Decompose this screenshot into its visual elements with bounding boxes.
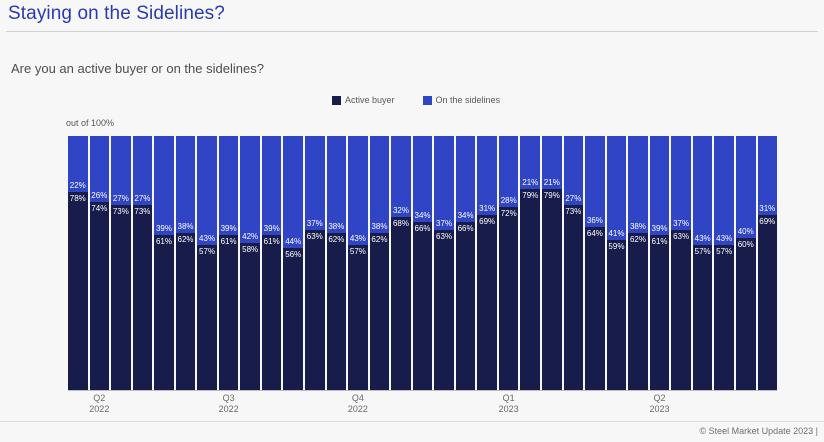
x-axis-tick-quarter: Q4 — [348, 393, 368, 404]
bar-segment-on-the-sidelines[interactable]: 36% — [585, 136, 605, 227]
x-axis-tick-quarter: Q2 — [649, 393, 669, 404]
stacked-bar-plot: 22%78%26%74%27%73%27%73%39%61%38%62%43%5… — [68, 136, 777, 390]
bar-segment-value-on-the-sidelines: 21% — [544, 178, 560, 187]
bar-segment-value-on-the-sidelines: 34% — [415, 211, 431, 220]
bar-column[interactable]: 43%57% — [693, 136, 713, 390]
x-axis-tick-year: 2022 — [219, 404, 239, 415]
bar-segment-value-on-the-sidelines: 22% — [70, 181, 86, 190]
square-swatch-icon — [332, 96, 341, 105]
x-axis-tick-quarter: Q1 — [499, 393, 519, 404]
page-title: Staying on the Sidelines? — [8, 3, 225, 25]
bar-segment-on-the-sidelines[interactable]: 38% — [176, 136, 196, 233]
bar-segment-value-on-the-sidelines: 39% — [221, 224, 237, 233]
bar-segment-value-active-buyer: 68% — [393, 219, 409, 228]
bar-segment-value-active-buyer: 57% — [716, 247, 732, 256]
x-axis-tick: Q12023 — [499, 393, 519, 415]
bar-segment-value-active-buyer: 69% — [759, 217, 775, 226]
bar-segment-active-buyer[interactable]: 73% — [133, 205, 153, 390]
bar-segment-value-on-the-sidelines: 26% — [91, 191, 107, 200]
bar-segment-value-active-buyer: 61% — [156, 237, 172, 246]
bar-segment-on-the-sidelines[interactable]: 43% — [714, 136, 734, 245]
bar-segment-on-the-sidelines[interactable]: 38% — [628, 136, 648, 233]
x-axis-tick-year: 2023 — [649, 404, 669, 415]
bar-column[interactable]: 36%64% — [585, 136, 605, 390]
chart-page: Staying on the Sidelines? Are you an act… — [0, 0, 824, 442]
bar-segment-on-the-sidelines[interactable]: 27% — [564, 136, 584, 205]
chart-subtitle: Are you an active buyer or on the sideli… — [11, 61, 264, 76]
bar-segment-on-the-sidelines[interactable]: 42% — [240, 136, 260, 243]
bar-segment-value-on-the-sidelines: 34% — [458, 211, 474, 220]
bar-segment-value-on-the-sidelines: 40% — [738, 227, 754, 236]
bar-segment-value-on-the-sidelines: 44% — [285, 237, 301, 246]
bar-segment-value-active-buyer: 63% — [436, 232, 452, 241]
x-axis-line — [68, 390, 777, 391]
bar-segment-on-the-sidelines[interactable]: 37% — [305, 136, 325, 230]
bar-segment-on-the-sidelines[interactable]: 43% — [693, 136, 713, 245]
bar-segment-value-on-the-sidelines: 41% — [608, 229, 624, 238]
bar-column[interactable]: 21%79% — [520, 136, 540, 390]
page-header: Staying on the Sidelines? — [0, 0, 824, 32]
bar-segment-value-active-buyer: 57% — [695, 247, 711, 256]
bar-segment-active-buyer[interactable]: 62% — [327, 233, 347, 390]
bar-segment-on-the-sidelines[interactable]: 34% — [413, 136, 433, 222]
bar-segment-value-active-buyer: 73% — [113, 207, 129, 216]
legend-item-active-buyer[interactable]: Active buyer — [332, 95, 395, 105]
bar-segment-active-buyer[interactable]: 63% — [671, 230, 691, 390]
bar-segment-active-buyer[interactable]: 57% — [693, 245, 713, 390]
bar-segment-value-active-buyer: 57% — [350, 247, 366, 256]
bar-column[interactable]: 28%72% — [499, 136, 519, 390]
bar-segment-active-buyer[interactable]: 62% — [628, 233, 648, 390]
bar-segment-on-the-sidelines[interactable]: 22% — [68, 136, 88, 192]
bar-segment-on-the-sidelines[interactable]: 40% — [736, 136, 756, 238]
x-axis-tick-year: 2022 — [89, 404, 109, 415]
bar-segment-value-on-the-sidelines: 43% — [695, 234, 711, 243]
bar-segment-value-on-the-sidelines: 27% — [113, 194, 129, 203]
bar-column[interactable]: 39%61% — [219, 136, 239, 390]
bar-column[interactable]: 27%73% — [564, 136, 584, 390]
bar-column[interactable]: 40%60% — [736, 136, 756, 390]
bar-segment-on-the-sidelines[interactable]: 28% — [499, 136, 519, 207]
bar-segment-on-the-sidelines[interactable]: 27% — [111, 136, 131, 205]
bar-column[interactable]: 37%63% — [671, 136, 691, 390]
bar-segment-on-the-sidelines[interactable]: 34% — [456, 136, 476, 222]
bar-column[interactable]: 27%73% — [111, 136, 131, 390]
bar-segment-value-active-buyer: 62% — [630, 235, 646, 244]
bar-segment-value-on-the-sidelines: 43% — [199, 234, 215, 243]
bar-segment-value-active-buyer: 63% — [673, 232, 689, 241]
bar-segment-value-on-the-sidelines: 39% — [264, 224, 280, 233]
bar-column[interactable]: 27%73% — [133, 136, 153, 390]
bar-column[interactable]: 21%79% — [542, 136, 562, 390]
bar-segment-value-on-the-sidelines: 27% — [565, 194, 581, 203]
x-axis-tick-quarter: Q3 — [219, 393, 239, 404]
bar-segment-value-active-buyer: 62% — [371, 235, 387, 244]
bar-column[interactable]: 31%69% — [477, 136, 497, 390]
bar-segment-value-active-buyer: 79% — [544, 191, 560, 200]
x-axis-tick: Q42022 — [348, 393, 368, 415]
bar-segment-on-the-sidelines[interactable]: 27% — [133, 136, 153, 205]
bar-column[interactable]: 39%61% — [650, 136, 670, 390]
x-axis-tick: Q22022 — [89, 393, 109, 415]
bar-segment-on-the-sidelines[interactable]: 39% — [262, 136, 282, 235]
bar-column[interactable]: 39%61% — [262, 136, 282, 390]
bar-column[interactable]: 43%57% — [348, 136, 368, 390]
bar-segment-value-on-the-sidelines: 43% — [716, 234, 732, 243]
bar-segment-value-on-the-sidelines: 42% — [242, 232, 258, 241]
bar-column[interactable]: 38%62% — [176, 136, 196, 390]
bar-segment-active-buyer[interactable]: 57% — [714, 245, 734, 390]
bar-column[interactable]: 31%69% — [758, 136, 778, 390]
bar-column[interactable]: 34%66% — [413, 136, 433, 390]
bar-segment-active-buyer[interactable]: 79% — [542, 189, 562, 390]
bar-segment-active-buyer[interactable]: 62% — [370, 233, 390, 390]
bar-column[interactable]: 38%62% — [370, 136, 390, 390]
x-axis-tick: Q32022 — [219, 393, 239, 415]
bar-segment-value-active-buyer: 61% — [264, 237, 280, 246]
bar-segment-value-on-the-sidelines: 32% — [393, 206, 409, 215]
bar-segment-on-the-sidelines[interactable]: 37% — [434, 136, 454, 230]
bar-column[interactable]: 43%57% — [197, 136, 217, 390]
bar-segment-active-buyer[interactable]: 74% — [90, 202, 110, 390]
bar-segment-value-active-buyer: 66% — [458, 224, 474, 233]
bar-segment-on-the-sidelines[interactable]: 43% — [197, 136, 217, 245]
bar-segment-active-buyer[interactable]: 63% — [305, 230, 325, 390]
bar-segment-active-buyer[interactable]: 61% — [219, 235, 239, 390]
bar-segment-on-the-sidelines[interactable]: 32% — [391, 136, 411, 217]
bar-segment-value-active-buyer: 62% — [328, 235, 344, 244]
bar-column[interactable]: 37%63% — [434, 136, 454, 390]
bar-column[interactable]: 44%56% — [283, 136, 303, 390]
x-axis-tick-quarter: Q2 — [89, 393, 109, 404]
bar-segment-active-buyer[interactable]: 61% — [650, 235, 670, 390]
y-axis-note: out of 100% — [66, 118, 114, 128]
bar-column[interactable]: 42%58% — [240, 136, 260, 390]
bar-segment-active-buyer[interactable]: 59% — [607, 240, 627, 390]
bar-segment-value-on-the-sidelines: 28% — [501, 196, 517, 205]
bar-segment-value-on-the-sidelines: 31% — [759, 204, 775, 213]
bar-segment-value-on-the-sidelines: 21% — [522, 178, 538, 187]
footer-credit: © Steel Market Update 2023 | — [699, 426, 818, 436]
bar-segment-active-buyer[interactable]: 56% — [283, 248, 303, 390]
bar-segment-value-on-the-sidelines: 38% — [630, 222, 646, 231]
footer-divider — [0, 421, 824, 422]
x-axis-tick-year: 2023 — [499, 404, 519, 415]
bar-segment-value-active-buyer: 62% — [177, 235, 193, 244]
bar-segment-active-buyer[interactable]: 73% — [111, 205, 131, 390]
bar-segment-value-on-the-sidelines: 37% — [436, 219, 452, 228]
bar-segment-active-buyer[interactable]: 60% — [736, 238, 756, 390]
legend-item-on-the-sidelines[interactable]: On the sidelines — [423, 95, 501, 105]
bar-segment-active-buyer[interactable]: 79% — [520, 189, 540, 390]
header-divider — [6, 31, 818, 32]
bar-column[interactable]: 39%61% — [154, 136, 174, 390]
x-axis-tick: Q22023 — [649, 393, 669, 415]
bar-segment-value-on-the-sidelines: 39% — [156, 224, 172, 233]
bar-segment-value-on-the-sidelines: 27% — [134, 194, 150, 203]
bar-segment-active-buyer[interactable]: 68% — [391, 217, 411, 390]
bar-segment-on-the-sidelines[interactable]: 43% — [348, 136, 368, 245]
bar-segment-value-active-buyer: 61% — [221, 237, 237, 246]
bar-segment-value-active-buyer: 69% — [479, 217, 495, 226]
bar-segment-value-active-buyer: 64% — [587, 229, 603, 238]
bar-segment-on-the-sidelines[interactable]: 31% — [758, 136, 778, 215]
bar-segment-active-buyer[interactable]: 72% — [499, 207, 519, 390]
bar-segment-value-active-buyer: 78% — [70, 194, 86, 203]
bar-segment-active-buyer[interactable]: 62% — [176, 233, 196, 390]
bar-segment-active-buyer[interactable]: 69% — [758, 215, 778, 390]
bar-segment-value-on-the-sidelines: 37% — [673, 219, 689, 228]
bar-segment-on-the-sidelines[interactable]: 21% — [542, 136, 562, 189]
bar-segment-active-buyer[interactable]: 69% — [477, 215, 497, 390]
bar-segment-value-on-the-sidelines: 31% — [479, 204, 495, 213]
square-swatch-icon — [423, 96, 432, 105]
bar-segment-value-active-buyer: 61% — [652, 237, 668, 246]
bar-segment-on-the-sidelines[interactable]: 38% — [370, 136, 390, 233]
chart-legend: Active buyer On the sidelines — [332, 95, 500, 105]
bar-segment-active-buyer[interactable]: 66% — [456, 222, 476, 390]
bar-segment-on-the-sidelines[interactable]: 39% — [219, 136, 239, 235]
bar-segment-on-the-sidelines[interactable]: 31% — [477, 136, 497, 215]
bar-segment-active-buyer[interactable]: 78% — [68, 192, 88, 390]
bar-segment-active-buyer[interactable]: 66% — [413, 222, 433, 390]
bar-segment-active-buyer[interactable]: 58% — [240, 243, 260, 390]
bar-segment-value-active-buyer: 56% — [285, 250, 301, 259]
legend-label-on-the-sidelines: On the sidelines — [436, 95, 501, 105]
bar-column[interactable]: 32%68% — [391, 136, 411, 390]
bar-segment-active-buyer[interactable]: 73% — [564, 205, 584, 390]
bar-segment-active-buyer[interactable]: 61% — [262, 235, 282, 390]
bar-segment-active-buyer[interactable]: 63% — [434, 230, 454, 390]
bar-segment-active-buyer[interactable]: 57% — [348, 245, 368, 390]
bar-segment-value-on-the-sidelines: 37% — [307, 219, 323, 228]
x-axis-tick-group: Q22022Q32022Q42022Q12023Q22023 — [68, 393, 777, 423]
bar-column[interactable]: 26%74% — [90, 136, 110, 390]
bar-segment-value-active-buyer: 79% — [522, 191, 538, 200]
bar-segment-on-the-sidelines[interactable]: 39% — [154, 136, 174, 235]
bar-segment-on-the-sidelines[interactable]: 41% — [607, 136, 627, 240]
bar-segment-on-the-sidelines[interactable]: 38% — [327, 136, 347, 233]
bar-segment-on-the-sidelines[interactable]: 39% — [650, 136, 670, 235]
bar-segment-on-the-sidelines[interactable]: 26% — [90, 136, 110, 202]
x-axis-tick-year: 2022 — [348, 404, 368, 415]
bar-segment-active-buyer[interactable]: 57% — [197, 245, 217, 390]
bar-segment-value-active-buyer: 66% — [415, 224, 431, 233]
bar-segment-on-the-sidelines[interactable]: 37% — [671, 136, 691, 230]
bar-segment-value-on-the-sidelines: 38% — [371, 222, 387, 231]
bar-segment-on-the-sidelines[interactable]: 44% — [283, 136, 303, 248]
bar-segment-value-active-buyer: 59% — [608, 242, 624, 251]
bar-segment-value-active-buyer: 60% — [738, 240, 754, 249]
bar-segment-value-on-the-sidelines: 43% — [350, 234, 366, 243]
bar-column[interactable]: 22%78% — [68, 136, 88, 390]
bar-column[interactable]: 38%62% — [327, 136, 347, 390]
bar-column[interactable]: 43%57% — [714, 136, 734, 390]
bar-segment-value-on-the-sidelines: 38% — [328, 222, 344, 231]
bar-segment-value-on-the-sidelines: 36% — [587, 216, 603, 225]
bar-segment-value-active-buyer: 73% — [134, 207, 150, 216]
bar-segment-value-on-the-sidelines: 38% — [177, 222, 193, 231]
legend-label-active-buyer: Active buyer — [345, 95, 395, 105]
bar-segment-on-the-sidelines[interactable]: 21% — [520, 136, 540, 189]
bar-segment-value-active-buyer: 73% — [565, 207, 581, 216]
bar-segment-value-active-buyer: 58% — [242, 245, 258, 254]
bar-segment-value-on-the-sidelines: 39% — [652, 224, 668, 233]
bar-segment-active-buyer[interactable]: 61% — [154, 235, 174, 390]
bar-segment-value-active-buyer: 57% — [199, 247, 215, 256]
bar-column[interactable]: 37%63% — [305, 136, 325, 390]
bar-segment-value-active-buyer: 63% — [307, 232, 323, 241]
bar-segment-value-active-buyer: 74% — [91, 204, 107, 213]
bar-segment-value-active-buyer: 72% — [501, 209, 517, 218]
bar-column[interactable]: 41%59% — [607, 136, 627, 390]
bar-column[interactable]: 34%66% — [456, 136, 476, 390]
bar-column[interactable]: 38%62% — [628, 136, 648, 390]
bar-segment-active-buyer[interactable]: 64% — [585, 227, 605, 390]
